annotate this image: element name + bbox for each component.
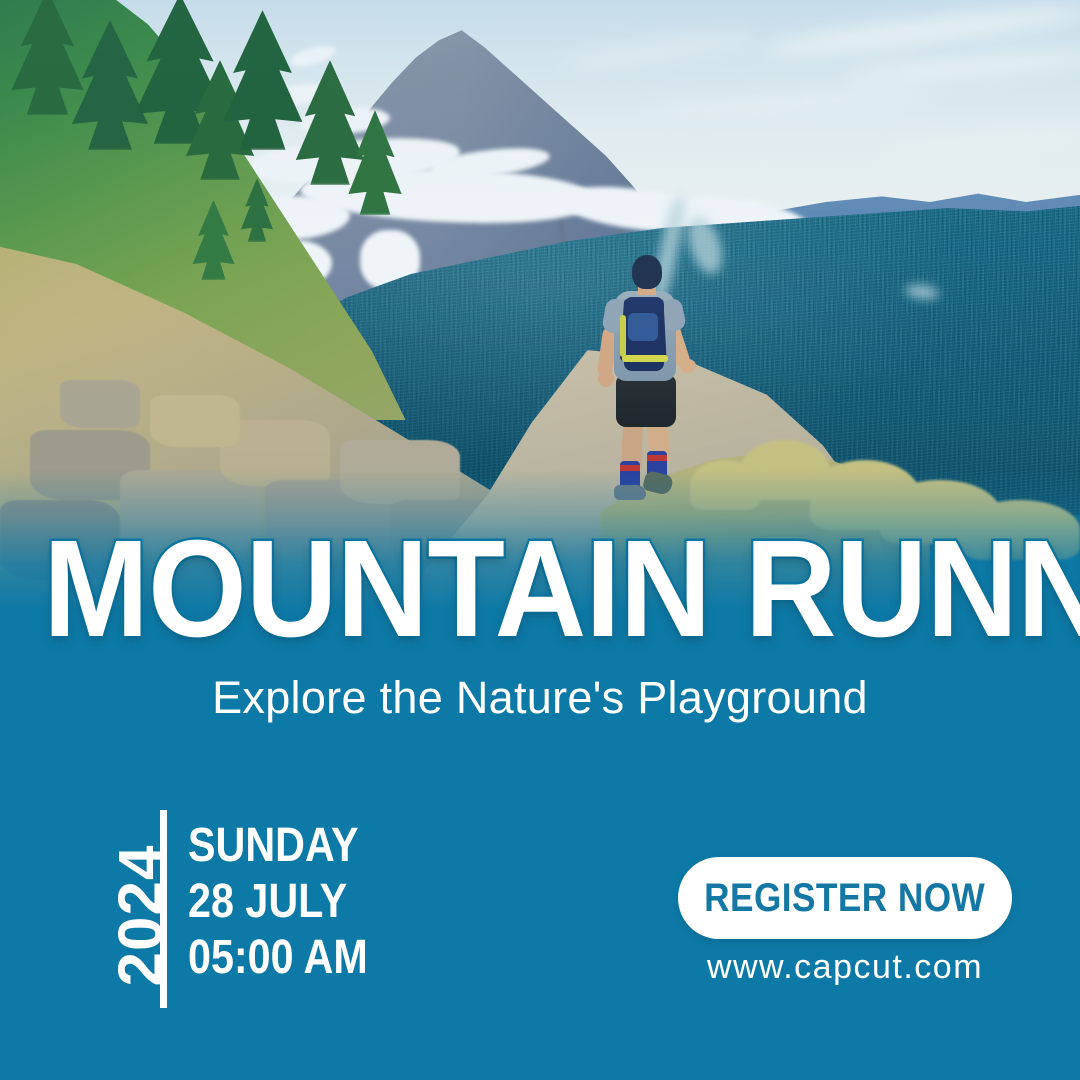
pack-accent <box>622 355 668 362</box>
poster-canvas: MOUNTAIN RUNNING Explore the Nature's Pl… <box>0 0 1080 1080</box>
event-date: 28 JULY <box>188 874 472 930</box>
event-time: 05:00 AM <box>188 930 472 986</box>
register-now-label: REGISTER NOW <box>704 876 985 921</box>
page-subtitle: Explore the Nature's Playground <box>0 672 1080 724</box>
runner-right-hand <box>680 359 696 373</box>
boulder <box>60 380 140 428</box>
runner-head <box>632 255 662 289</box>
event-day: SUNDAY <box>188 818 472 874</box>
boulder <box>150 395 240 447</box>
backpack-highlight <box>628 313 658 341</box>
website-url[interactable]: www.capcut.com <box>678 948 1012 987</box>
trail-runner <box>598 255 708 505</box>
vertical-divider <box>160 810 167 1008</box>
sock-stripe <box>647 455 667 461</box>
pack-accent <box>620 315 626 357</box>
runner-shorts <box>616 375 676 427</box>
event-details: SUNDAY 28 JULY 05:00 AM <box>188 818 518 986</box>
runner-left-hand <box>598 371 614 387</box>
register-now-button[interactable]: REGISTER NOW <box>678 857 1012 939</box>
page-title: MOUNTAIN RUNNING <box>43 520 1037 658</box>
